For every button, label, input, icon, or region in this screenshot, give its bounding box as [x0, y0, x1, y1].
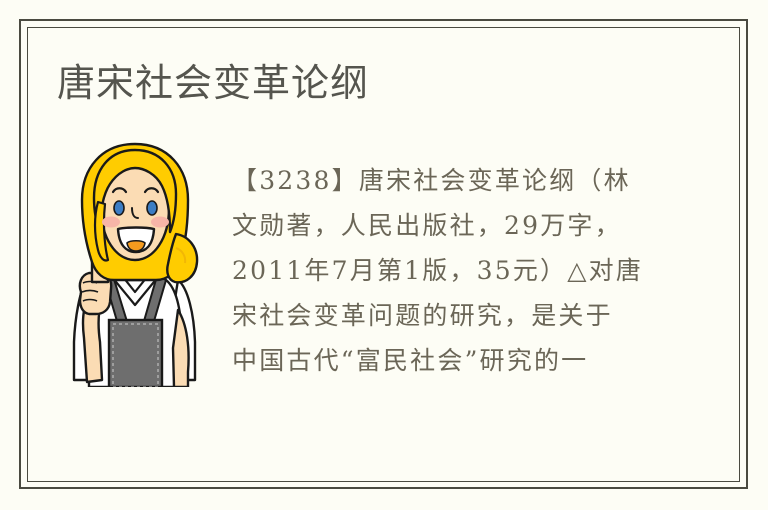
page-title: 唐宋社会变革论纲: [57, 60, 369, 108]
cartoon-girl-illustration: [56, 142, 214, 387]
page-canvas: 唐宋社会变革论纲: [0, 0, 768, 510]
text-line: 文勋著，人民出版社，29万字，: [232, 203, 652, 248]
text-line: 中国古代“富民社会”研究的一: [232, 338, 652, 383]
text-line: 宋社会变革问题的研究，是关于: [232, 293, 652, 338]
book-entry-text: 【3238】唐宋社会变革论纲（林 文勋著，人民出版社，29万字， 2011年7月…: [232, 158, 652, 383]
text-line: 【3238】唐宋社会变革论纲（林: [232, 158, 652, 203]
text-line: 2011年7月第1版，35元）△对唐: [232, 248, 652, 293]
